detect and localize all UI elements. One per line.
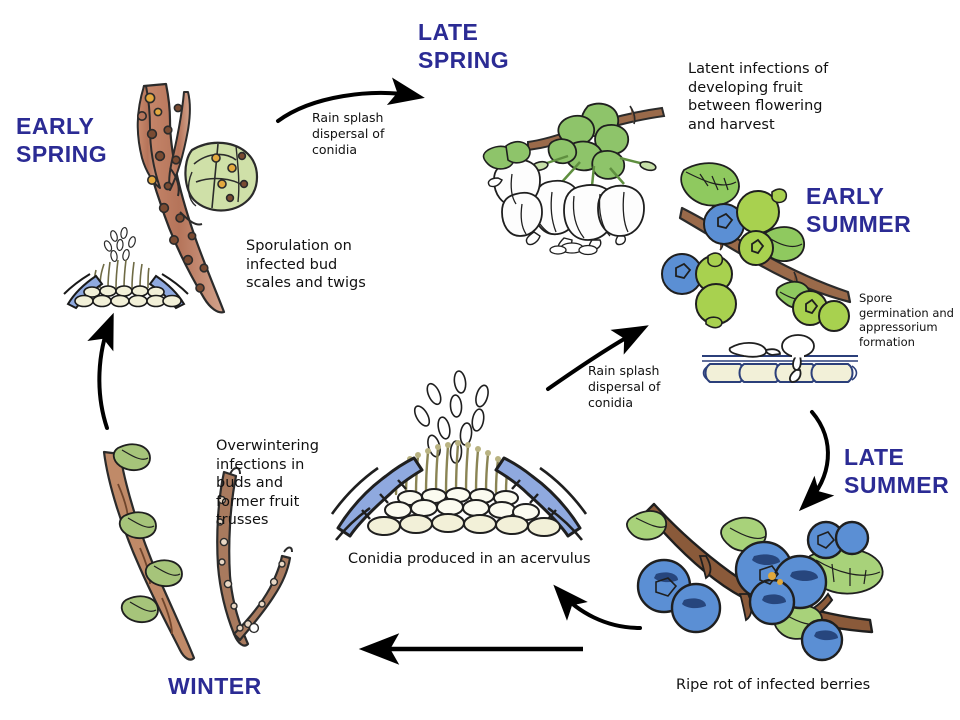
caption-acervulus: Conidia produced in an acervulus (348, 550, 591, 569)
illustration-acervulus-large (330, 372, 590, 552)
caption-rain-splash-top: Rain splash dispersal of conidia (312, 110, 384, 158)
caption-overwintering: Overwintering infections in buds and for… (216, 437, 319, 530)
illustration-ripe-berries (620, 490, 920, 660)
illustration-flower-truss (452, 86, 672, 256)
illustration-epidermis-appressorium (700, 334, 860, 396)
season-label-late-spring: LATE SPRING (418, 18, 509, 74)
caption-ripe-rot: Ripe rot of infected berries (676, 676, 870, 695)
arrow-winter-to-early-spring (99, 322, 110, 428)
caption-latent-infections: Latent infections of developing fruit be… (688, 60, 828, 134)
season-label-late-summer: LATE SUMMER (844, 443, 949, 499)
illustration-sporulating-acervulus-small (62, 228, 192, 310)
caption-sporulation: Sporulation on infected bud scales and t… (246, 237, 366, 293)
disease-cycle-diagram: EARLY SPRING LATE SPRING EARLY SUMMER LA… (0, 0, 960, 720)
illustration-green-blue-berries (660, 152, 860, 332)
season-label-winter: WINTER (168, 672, 262, 700)
caption-rain-splash-mid: Rain splash dispersal of conidia (588, 363, 660, 411)
season-label-early-spring: EARLY SPRING (16, 112, 107, 168)
caption-spore-germination: Spore germination and appressorium forma… (859, 291, 954, 349)
season-label-early-summer: EARLY SUMMER (806, 182, 911, 238)
